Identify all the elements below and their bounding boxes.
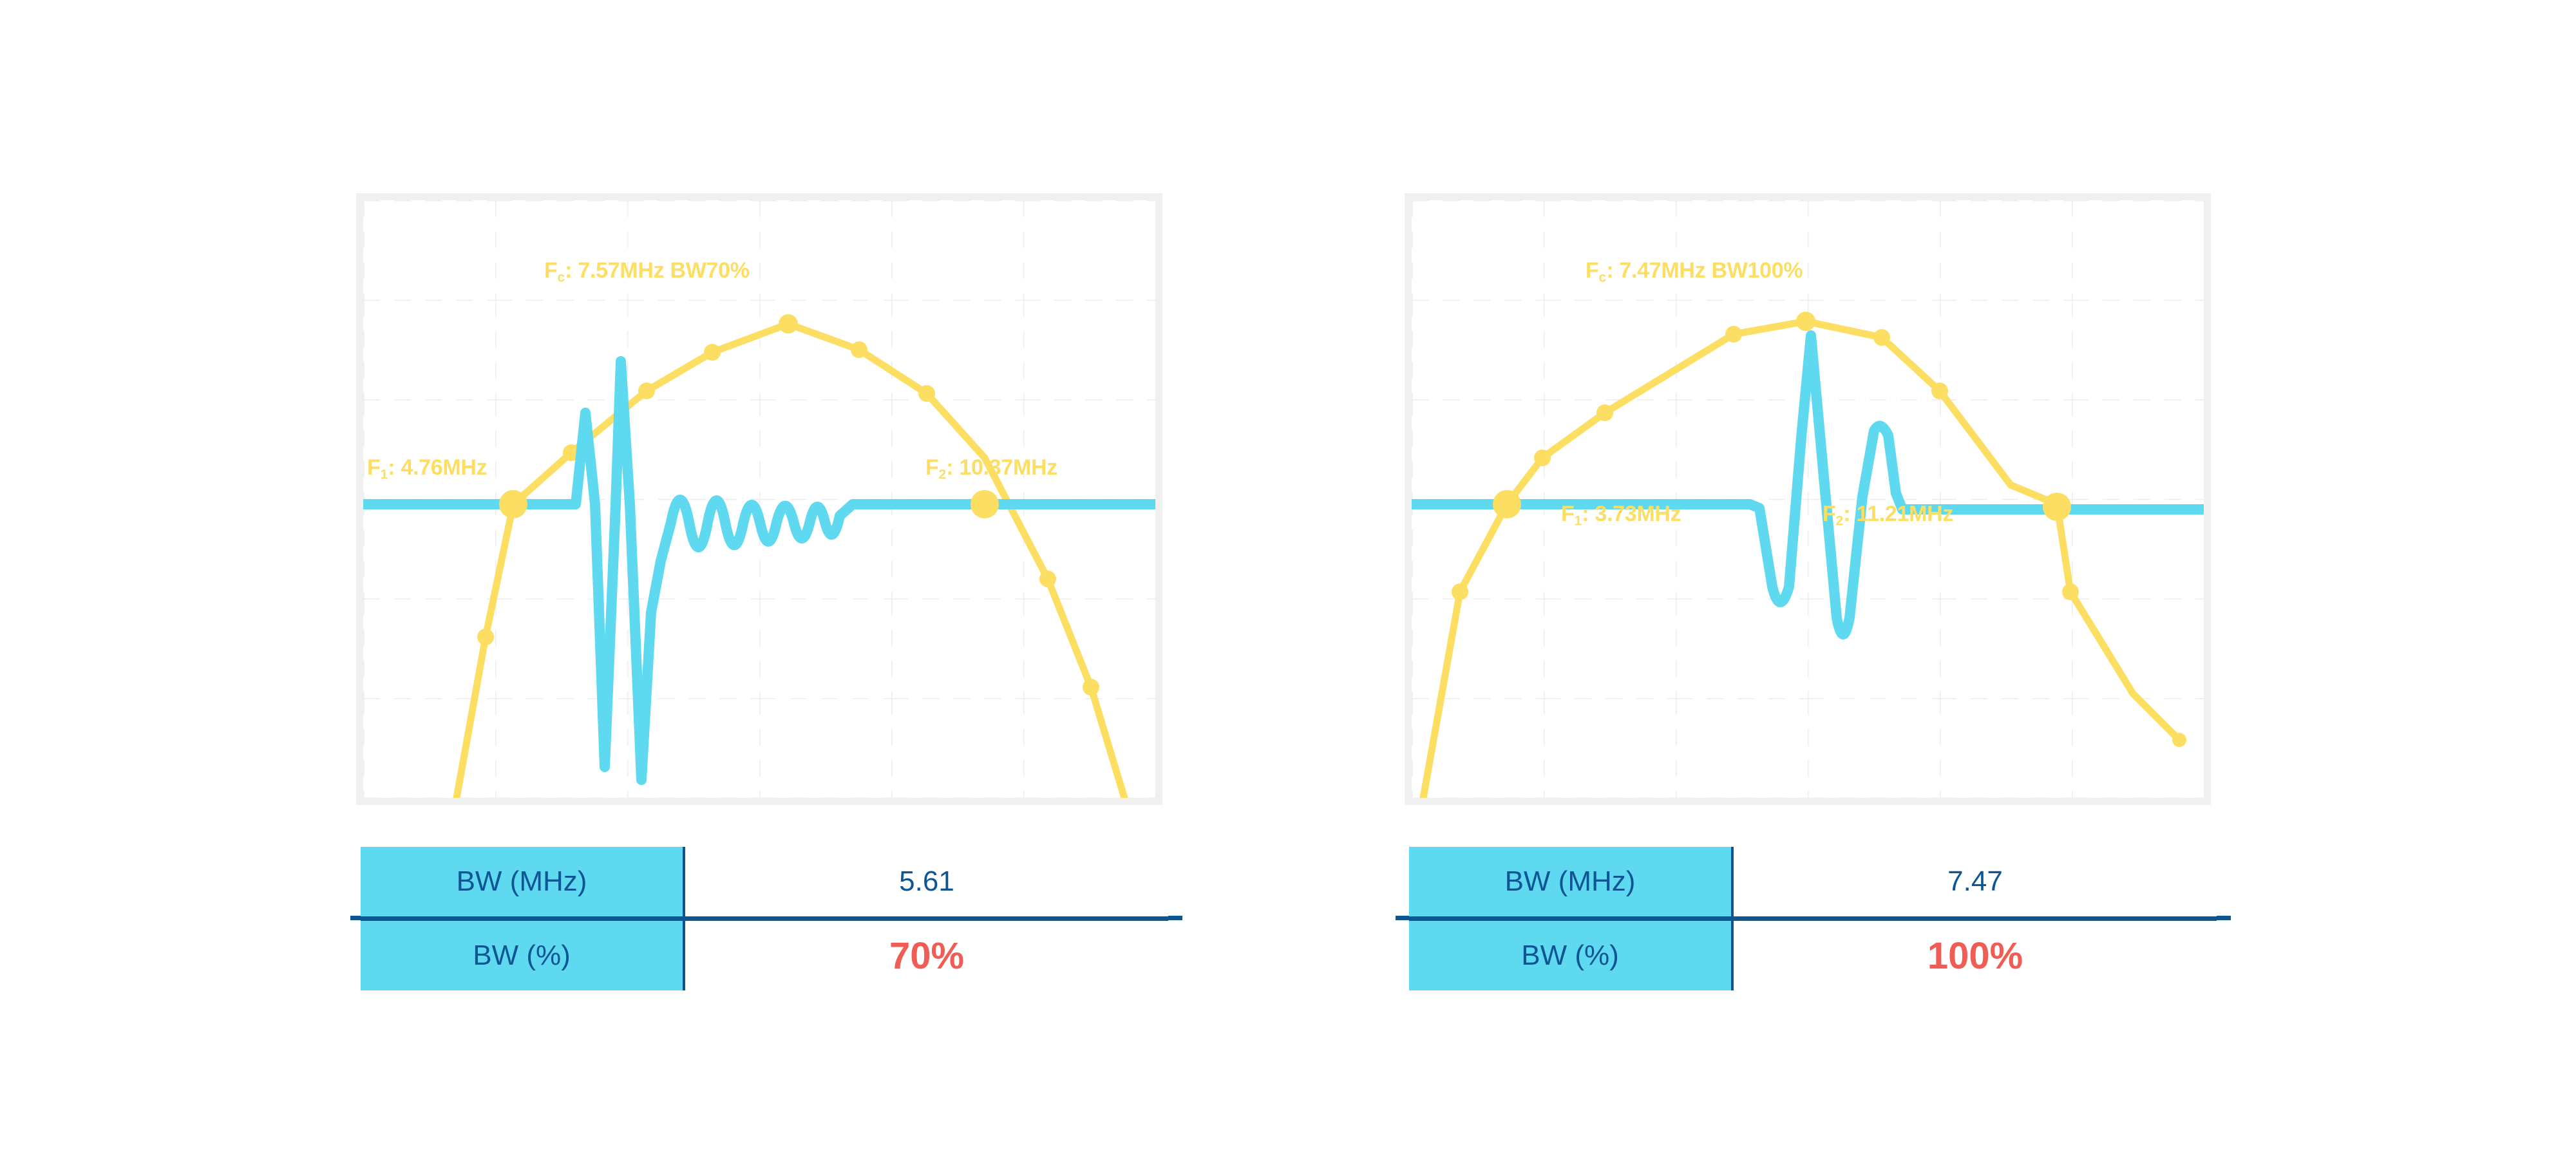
annotation-f2-left: F2: 10.37MHz [925,457,1057,481]
fc-text: : 7.47MHz BW100% [1606,258,1803,283]
fc-subscript: c [1598,270,1606,285]
f2-subscript: 2 [938,467,946,482]
panel-left: Fc: 7.57MHz BW70% F1: 4.76MHz F2: 10.37M… [356,193,1162,805]
row-label-bw-percent: BW (%) [361,919,684,991]
chart-plot-left [363,200,1155,798]
f1-symbol: F [1561,502,1574,526]
bandwidth-table-right: BW (MHz) 7.47 BW (%) 100% [1409,847,2217,990]
table-row: BW (MHz) 5.61 [361,847,1168,919]
fc-symbol: F [544,258,557,283]
row-label-bw-mhz: BW (MHz) [361,847,684,919]
f2-subscript: 2 [1835,513,1843,528]
fc-text: : 7.57MHz BW70% [565,258,749,283]
f1-subscript: 1 [380,467,388,482]
chart-frame-right: Fc: 7.47MHz BW100% F1: 3.73MHz F2: 11.21… [1405,193,2211,805]
row-value-bw-mhz: 5.61 [684,847,1168,919]
row-label-bw-mhz: BW (MHz) [1409,847,1732,919]
table-row: BW (%) 70% [361,919,1168,991]
marker-f1-right [1493,490,1521,518]
row-value-bw-percent: 70% [684,919,1168,991]
f1-text: : 3.73MHz [1582,502,1681,526]
marker-f2-right [2043,493,2071,521]
annotation-fc-left: Fc: 7.57MHz BW70% [544,260,750,284]
row-label-bw-percent: BW (%) [1409,919,1732,991]
annotation-f1-right: F1: 3.73MHz [1561,503,1681,527]
row-value-bw-percent: 100% [1732,919,2217,991]
chart-plot-right [1412,200,2204,798]
annotation-fc-right: Fc: 7.47MHz BW100% [1586,260,1803,284]
chart-canvas-left [363,200,1155,798]
fc-symbol: F [1586,258,1598,283]
f2-symbol: F [925,455,938,480]
table-row: BW (MHz) 7.47 [1409,847,2217,919]
f2-text: : 10.37MHz [946,455,1057,480]
transducer-bandwidth-comparison: Fc: 7.57MHz BW70% F1: 4.76MHz F2: 10.37M… [0,0,2576,1154]
marker-f2-left [971,490,999,518]
marker-f1-left [499,490,527,518]
panel-right: Fc: 7.47MHz BW100% F1: 3.73MHz F2: 11.21… [1405,193,2211,805]
annotation-f2-right: F2: 11.21MHz [1823,503,1953,527]
table-row: BW (%) 100% [1409,919,2217,991]
f1-text: : 4.76MHz [388,455,487,480]
bandwidth-table-left: BW (MHz) 5.61 BW (%) 70% [361,847,1168,990]
annotation-f1-left: F1: 4.76MHz [367,457,487,481]
f2-symbol: F [1823,502,1835,526]
f2-text: : 11.21MHz [1843,502,1953,526]
chart-canvas-right [1412,200,2204,798]
f1-subscript: 1 [1574,513,1582,528]
chart-frame-left: Fc: 7.57MHz BW70% F1: 4.76MHz F2: 10.37M… [356,193,1162,805]
fc-subscript: c [557,270,565,285]
row-value-bw-mhz: 7.47 [1732,847,2217,919]
f1-symbol: F [367,455,380,480]
